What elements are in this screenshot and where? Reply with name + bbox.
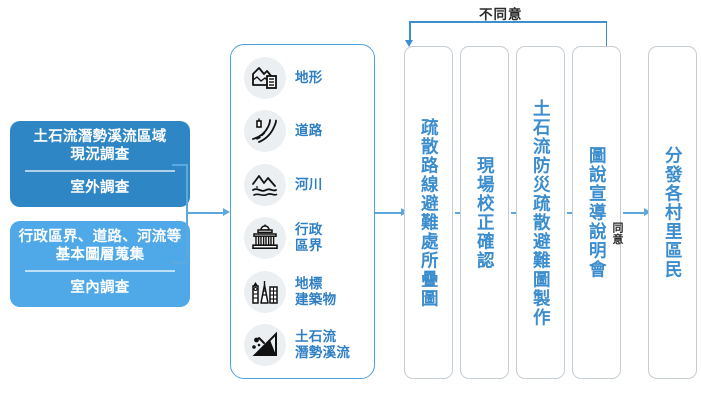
survey-box-outdoor[interactable]: 土石流潛勢溪流區域 現況調查 室外調查 [10, 121, 190, 207]
connector-panel-to-step1 [375, 212, 402, 214]
layer-panel: 地形 道路 [230, 44, 375, 379]
river-icon [244, 164, 286, 206]
survey-box-indoor-divider [25, 270, 175, 272]
bracket-outlet-line [186, 212, 224, 214]
administration-icon [244, 217, 286, 259]
survey-box-indoor[interactable]: 行政區界、道路、河流等 基本圖層蒐集 室內調查 [10, 221, 190, 307]
process-step-distribute-to-residents-label: 分發各村里區民 [664, 146, 682, 279]
layer-item-road-label: 道路 [295, 123, 323, 139]
layer-item-debris-flow-label: 土石流 潛勢溪流 [295, 329, 350, 361]
layer-item-road[interactable]: 道路 [231, 108, 374, 154]
layer-item-terrain-label: 地形 [295, 70, 323, 86]
terrain-icon [244, 57, 286, 99]
layer-item-landmark-building[interactable]: 地標 建築物 [231, 269, 374, 315]
process-step-evacuation-route-overlay[interactable]: 疏散路線避難處所疊圖 [404, 46, 453, 379]
connector-step4-to-step5 [623, 212, 645, 214]
flowchart-canvas: 土石流潛勢溪流區域 現況調查 室外調查 行政區界、道路、河流等 基本圖層蒐集 室… [0, 0, 701, 401]
process-step-map-production-label: 土石流防災疏散避難圖製作 [532, 99, 550, 327]
process-step-evacuation-route-overlay-label: 疏散路線避難處所疊圖 [420, 118, 438, 308]
landmark-building-icon [244, 271, 286, 313]
layer-item-landmark-building-label: 地標 建築物 [295, 276, 336, 308]
survey-box-outdoor-divider [25, 170, 175, 172]
layer-item-administration-label: 行政 區界 [295, 222, 323, 254]
debris-flow-icon [244, 324, 286, 366]
survey-box-indoor-subtitle: 室內調查 [70, 276, 129, 297]
process-step-briefing-session[interactable]: 圖說宣導說明會 [572, 46, 621, 379]
process-step-distribute-to-residents[interactable]: 分發各村里區民 [648, 46, 697, 379]
road-icon [244, 110, 286, 152]
process-step-field-verification-label: 現場校正確認 [476, 156, 494, 270]
survey-box-outdoor-subtitle: 室外調查 [70, 176, 129, 197]
bracket-spine [186, 164, 188, 264]
edge-label-agree: 同意 [611, 222, 622, 245]
process-step-map-production[interactable]: 土石流防災疏散避難圖製作 [516, 46, 565, 379]
feedback-loop-right-segment [606, 21, 608, 46]
layer-item-terrain[interactable]: 地形 [231, 55, 374, 101]
survey-box-indoor-title: 行政區界、道路、河流等 基本圖層蒐集 [19, 229, 182, 264]
layer-item-administration[interactable]: 行政 區界 [231, 215, 374, 261]
layer-item-debris-flow[interactable]: 土石流 潛勢溪流 [231, 322, 374, 368]
edge-label-disagree: 不同意 [479, 3, 523, 23]
layer-item-river-label: 河川 [295, 177, 323, 193]
feedback-loop-arrowhead-icon [405, 40, 413, 47]
layer-item-river[interactable]: 河川 [231, 162, 374, 208]
feedback-loop-left-segment [409, 21, 411, 41]
bracket-arrowhead-icon [223, 208, 230, 216]
process-step-briefing-session-label: 圖說宣導說明會 [588, 146, 606, 279]
process-step-field-verification[interactable]: 現場校正確認 [460, 46, 509, 379]
survey-box-outdoor-title: 土石流潛勢溪流區域 現況調查 [33, 129, 166, 164]
